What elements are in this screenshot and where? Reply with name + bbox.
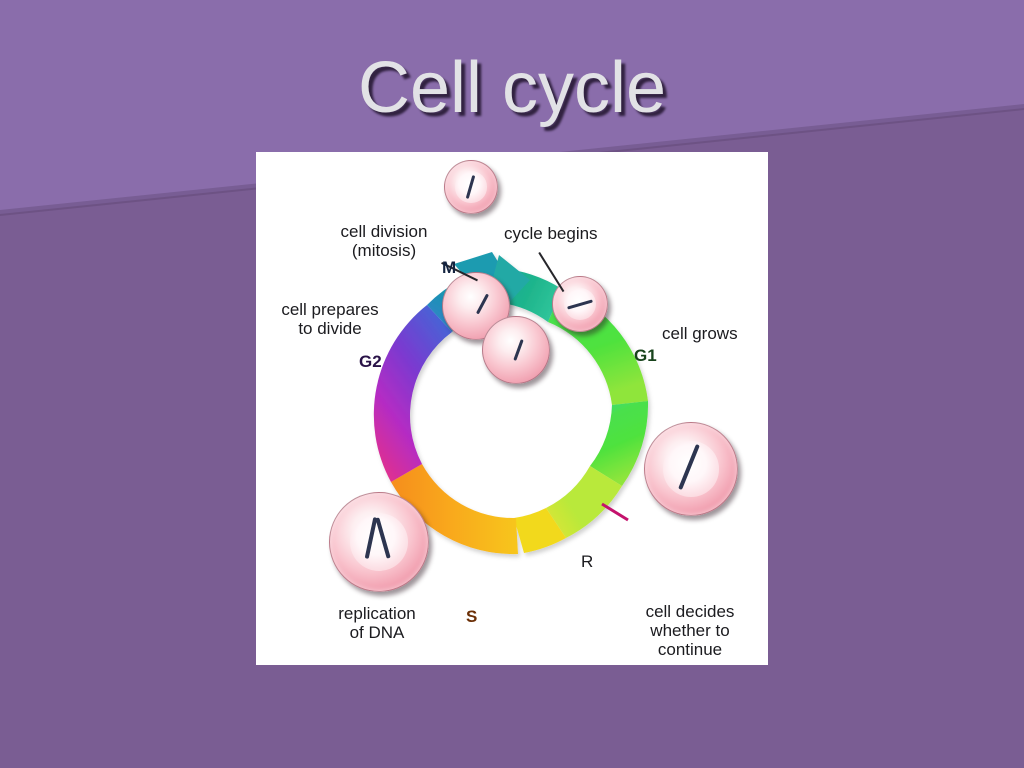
chromosome: [514, 340, 524, 362]
phase-label-g1: G1: [634, 346, 657, 366]
dividing-cell-mitosis: [442, 272, 546, 382]
label-cell-grows: cell grows: [662, 324, 782, 343]
slide-canvas: Cell cycle: [0, 0, 1024, 768]
daughter-lobe-b: [482, 316, 550, 384]
label-cell-decides-whether-to-continue: cell decides whether to continue: [624, 602, 756, 659]
phase-label-m: M: [442, 258, 456, 278]
chromosome: [476, 293, 489, 314]
label-cell-division: cell division (mitosis): [311, 222, 457, 260]
daughter-cell-top: [444, 160, 498, 214]
diagram-inner: cell division (mitosis) cycle begins cel…: [256, 152, 768, 665]
label-cycle-begins: cycle begins: [504, 224, 644, 243]
cell-cycle-diagram: cell division (mitosis) cycle begins cel…: [256, 152, 768, 665]
page-title: Cell cycle: [0, 52, 1024, 124]
label-cell-prepares-to-divide: cell prepares to divide: [262, 300, 398, 338]
restriction-point-marker: [602, 504, 628, 520]
label-replication-of-dna: replication of DNA: [310, 604, 444, 642]
restriction-point-label: R: [581, 552, 593, 572]
phase-label-g2: G2: [359, 352, 382, 372]
g1-cell-large: [644, 422, 738, 516]
s-phase-cell-replicated: [329, 492, 429, 592]
phase-label-s: S: [466, 607, 477, 627]
nucleus: [663, 441, 718, 496]
